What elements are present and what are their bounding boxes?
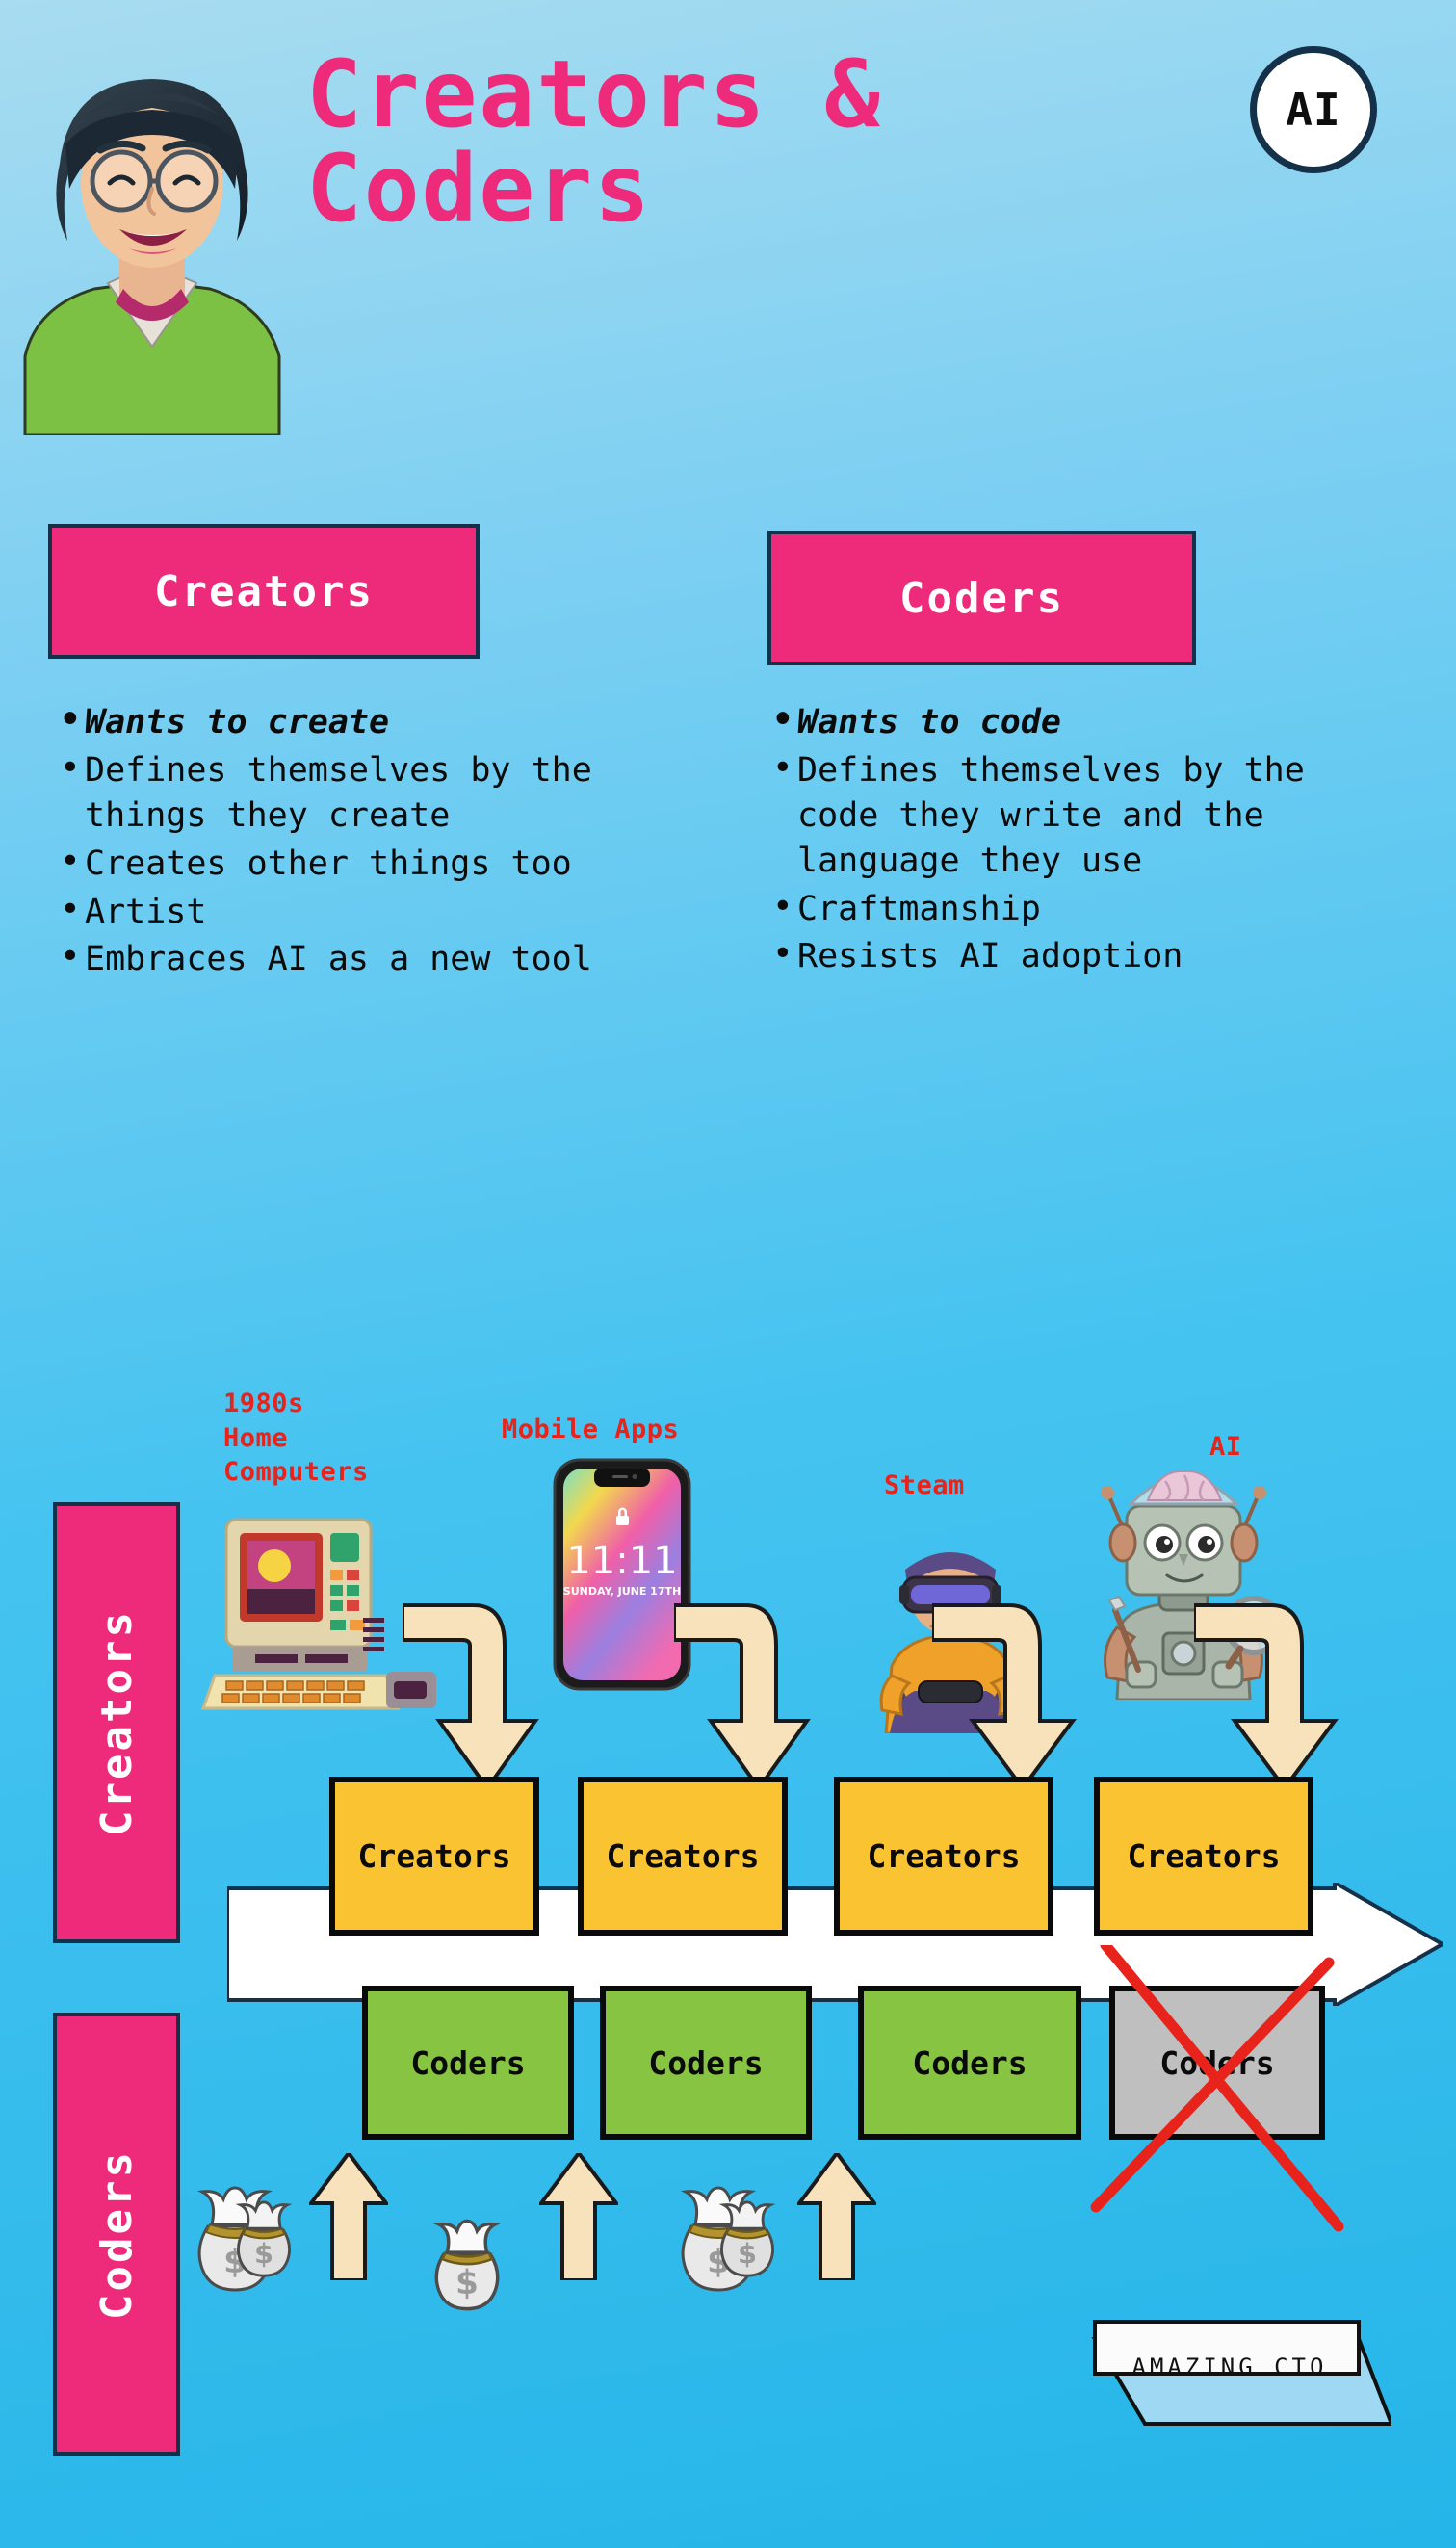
- row-label-coders: Coders: [53, 2013, 180, 2456]
- era-label-home-computers: 1980sHomeComputers: [223, 1387, 435, 1490]
- row-label-creators: Creators: [53, 1502, 180, 1943]
- avatar: [8, 0, 297, 435]
- phone-time: 11:11: [566, 1539, 677, 1583]
- svg-text:$: $: [738, 2237, 757, 2270]
- header: Creators & Coders AI: [0, 0, 1456, 438]
- timeline-node-coders-3[interactable]: Coders: [858, 1986, 1081, 2140]
- list-item: Craftmanship: [768, 887, 1356, 932]
- timeline-node-creators-4[interactable]: Creators: [1094, 1777, 1313, 1936]
- list-item: Defines themselves by the things they cr…: [56, 748, 653, 839]
- brand-logo-text: AMAZING CTO: [1105, 2342, 1354, 2392]
- page-title: Creators & Coders: [306, 48, 1038, 237]
- cross-out-icon: [1086, 1945, 1356, 2234]
- money-bag-icon-3: $ $: [674, 2178, 780, 2299]
- svg-text:$: $: [455, 2264, 479, 2302]
- timeline-node-coders-1[interactable]: Coders: [362, 1986, 574, 2140]
- creators-bullet-list: Wants to create Defines themselves by th…: [56, 700, 653, 985]
- flow-arrow-down-4: [1194, 1592, 1367, 1799]
- row-label-coders-text: Coders: [92, 2149, 142, 2320]
- coders-column-heading: Coders: [767, 531, 1196, 665]
- money-bag-icon-1: $ $: [191, 2178, 297, 2299]
- row-label-creators-text: Creators: [92, 1609, 142, 1836]
- flow-arrow-down-1: [403, 1592, 566, 1799]
- era-label-mobile-apps: Mobile Apps: [502, 1413, 752, 1447]
- creators-column-heading: Creators: [48, 524, 480, 659]
- flow-arrow-up-3: [797, 2153, 876, 2280]
- smartphone-icon: 11:11 SUNDAY, JUNE 17TH: [551, 1456, 693, 1692]
- coders-bullet-list: Wants to code Defines themselves by the …: [768, 700, 1356, 982]
- list-item: Wants to create: [56, 700, 653, 745]
- flow-arrow-down-3: [932, 1592, 1105, 1799]
- timeline-node-creators-2[interactable]: Creators: [578, 1777, 788, 1936]
- flow-arrow-down-2: [674, 1592, 838, 1799]
- flow-arrow-up-2: [539, 2153, 618, 2280]
- list-item: Wants to code: [768, 700, 1356, 745]
- ai-badge: AI: [1250, 46, 1377, 173]
- list-item: Creates other things too: [56, 842, 653, 887]
- list-item: Resists AI adoption: [768, 934, 1356, 979]
- timeline-node-creators-1[interactable]: Creators: [329, 1777, 539, 1936]
- money-bag-icon-2: $: [416, 2200, 522, 2321]
- title-line-1: Creators &: [306, 48, 1038, 143]
- list-item: Defines themselves by the code they writ…: [768, 748, 1356, 884]
- flow-arrow-up-1: [309, 2153, 388, 2280]
- list-item: Embraces AI as a new tool: [56, 937, 653, 982]
- timeline-node-creators-3[interactable]: Creators: [834, 1777, 1053, 1936]
- list-item: Artist: [56, 890, 653, 935]
- svg-text:$: $: [254, 2237, 273, 2270]
- title-line-2: Coders: [306, 143, 1038, 237]
- timeline-node-coders-2[interactable]: Coders: [600, 1986, 812, 2140]
- phone-date: SUNDAY, JUNE 17TH: [563, 1585, 681, 1598]
